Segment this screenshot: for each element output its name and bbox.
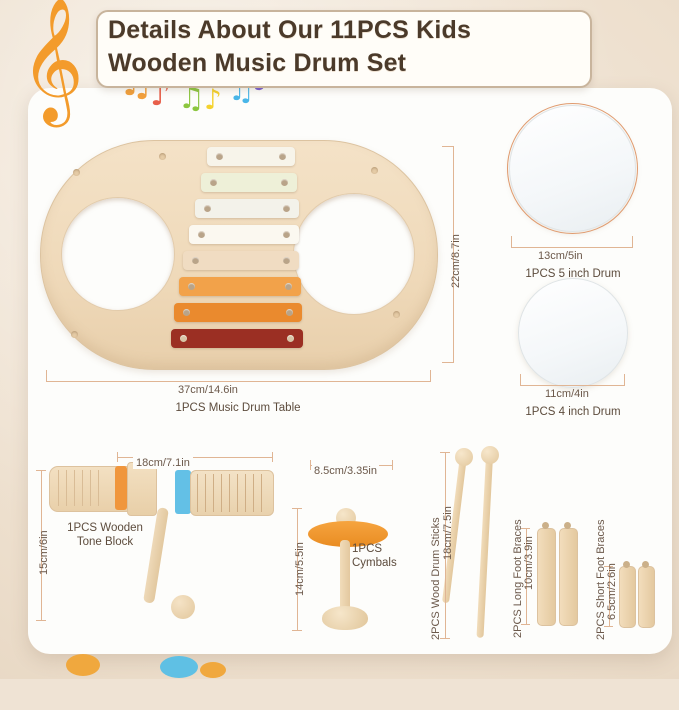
dimension-tick — [292, 630, 302, 631]
dimension-label-cymbal-height: 14cm/5.5in — [294, 542, 306, 596]
page-title: Details About Our 11PCS Kids Wooden Musi… — [108, 14, 578, 80]
drum-hole-left — [61, 197, 175, 311]
dimension-line-drum5 — [511, 247, 632, 248]
screw-peg — [71, 331, 78, 338]
brace-screw — [564, 522, 571, 529]
treble-clef-icon: 𝄞 — [20, 6, 84, 114]
dimension-label-table-height: 22cm/8.7in — [450, 234, 462, 288]
dimension-label-table-width: 37cm/14.6in — [178, 384, 238, 396]
cymbal-stem — [340, 540, 350, 614]
brace-screw — [623, 561, 630, 568]
music-drum-table — [40, 140, 438, 370]
caption-cymbals: 1PCS Cymbals — [352, 542, 432, 570]
dimension-line-table-width — [46, 381, 430, 382]
title-line-2: Wooden Music Drum Set — [108, 47, 578, 80]
caption-drum-sticks: 2PCS Wood Drum Sticks — [430, 517, 442, 640]
xylophone-key — [171, 329, 303, 348]
caption-tone-block: 1PCS Wooden Tone Block — [50, 521, 160, 549]
tone-block-ribbed-section — [190, 470, 274, 516]
dimension-tick — [624, 374, 625, 386]
drum-stick-knob — [455, 448, 473, 466]
drum-4-inch — [518, 278, 628, 388]
brace-screw — [542, 522, 549, 529]
xylophone-key — [201, 173, 297, 192]
drum-5-inch-outline — [507, 103, 638, 234]
caption-short-foot-braces: 2PCS Short Foot Braces — [595, 520, 607, 640]
dimension-tick — [392, 460, 393, 470]
dimension-label-short-brace: 6.5cm/2.6in — [606, 563, 618, 620]
xylophone-keys — [171, 147, 331, 362]
screw-peg — [73, 169, 80, 176]
dimension-tick — [442, 362, 454, 363]
tone-block-neck — [127, 462, 157, 516]
tone-block-mallet-head — [171, 595, 195, 619]
short-foot-brace — [619, 566, 636, 628]
drum-stick-knob — [481, 446, 499, 464]
tone-block-orange-band — [115, 466, 127, 510]
xylophone-key — [207, 147, 295, 166]
dimension-label-long-brace: 10cm/3.9in — [523, 536, 535, 590]
dimension-label-cymbal-width: 8.5cm/3.35in — [312, 465, 379, 477]
xylophone-key — [174, 303, 302, 322]
cymbal-base — [322, 606, 368, 630]
dimension-tick — [632, 236, 633, 248]
title-line-1: Details About Our 11PCS Kids — [108, 14, 578, 47]
dimension-label-drum4: 11cm/4in — [545, 388, 589, 400]
tone-block-grooves — [58, 470, 104, 506]
long-foot-brace — [537, 528, 556, 626]
caption-drum-table: 1PCS Music Drum Table — [148, 402, 328, 414]
dimension-line-drum4 — [520, 385, 624, 386]
decor-blob — [66, 654, 100, 676]
dimension-label-drum5: 13cm/5in — [538, 250, 583, 262]
dimension-label-tone-block-width: 18cm/7.1in — [133, 457, 193, 469]
dimension-tick — [430, 370, 431, 382]
caption-drum-4-inch: 1PCS 4 inch Drum — [508, 406, 638, 418]
tone-block-blue-band — [175, 470, 191, 514]
decor-blob — [200, 662, 226, 678]
screenshot-stage: 𝄞 ♪ ♫ ♪ ♫ ♪ ♫ ♪ ♬ Details About Our 11PC… — [0, 0, 679, 679]
music-note-icon: ♪ — [204, 86, 222, 114]
screw-peg — [371, 167, 378, 174]
dimension-tick — [272, 452, 273, 462]
short-foot-brace — [638, 566, 655, 628]
decor-blob — [160, 656, 198, 678]
xylophone-key — [189, 225, 299, 244]
caption-cymbals-line2: Cymbals — [352, 556, 432, 570]
dimension-tick — [36, 620, 46, 621]
brace-screw — [642, 561, 649, 568]
xylophone-key — [183, 251, 299, 270]
caption-cymbals-line1: 1PCS — [352, 542, 432, 556]
caption-tone-block-line1: 1PCS Wooden — [50, 521, 160, 535]
xylophone-key — [179, 277, 301, 296]
caption-long-foot-braces: 2PCS Long Foot Braces — [512, 519, 524, 638]
dimension-label-drumstick: 18cm/7.5in — [442, 506, 454, 560]
long-foot-brace — [559, 528, 578, 626]
screw-peg — [393, 311, 400, 318]
music-note-icon: ♫ — [178, 84, 205, 114]
xylophone-key — [195, 199, 299, 218]
screw-peg — [159, 153, 166, 160]
caption-tone-block-line2: Tone Block — [50, 535, 160, 549]
dimension-label-tone-block-height: 15cm/6in — [38, 530, 50, 575]
